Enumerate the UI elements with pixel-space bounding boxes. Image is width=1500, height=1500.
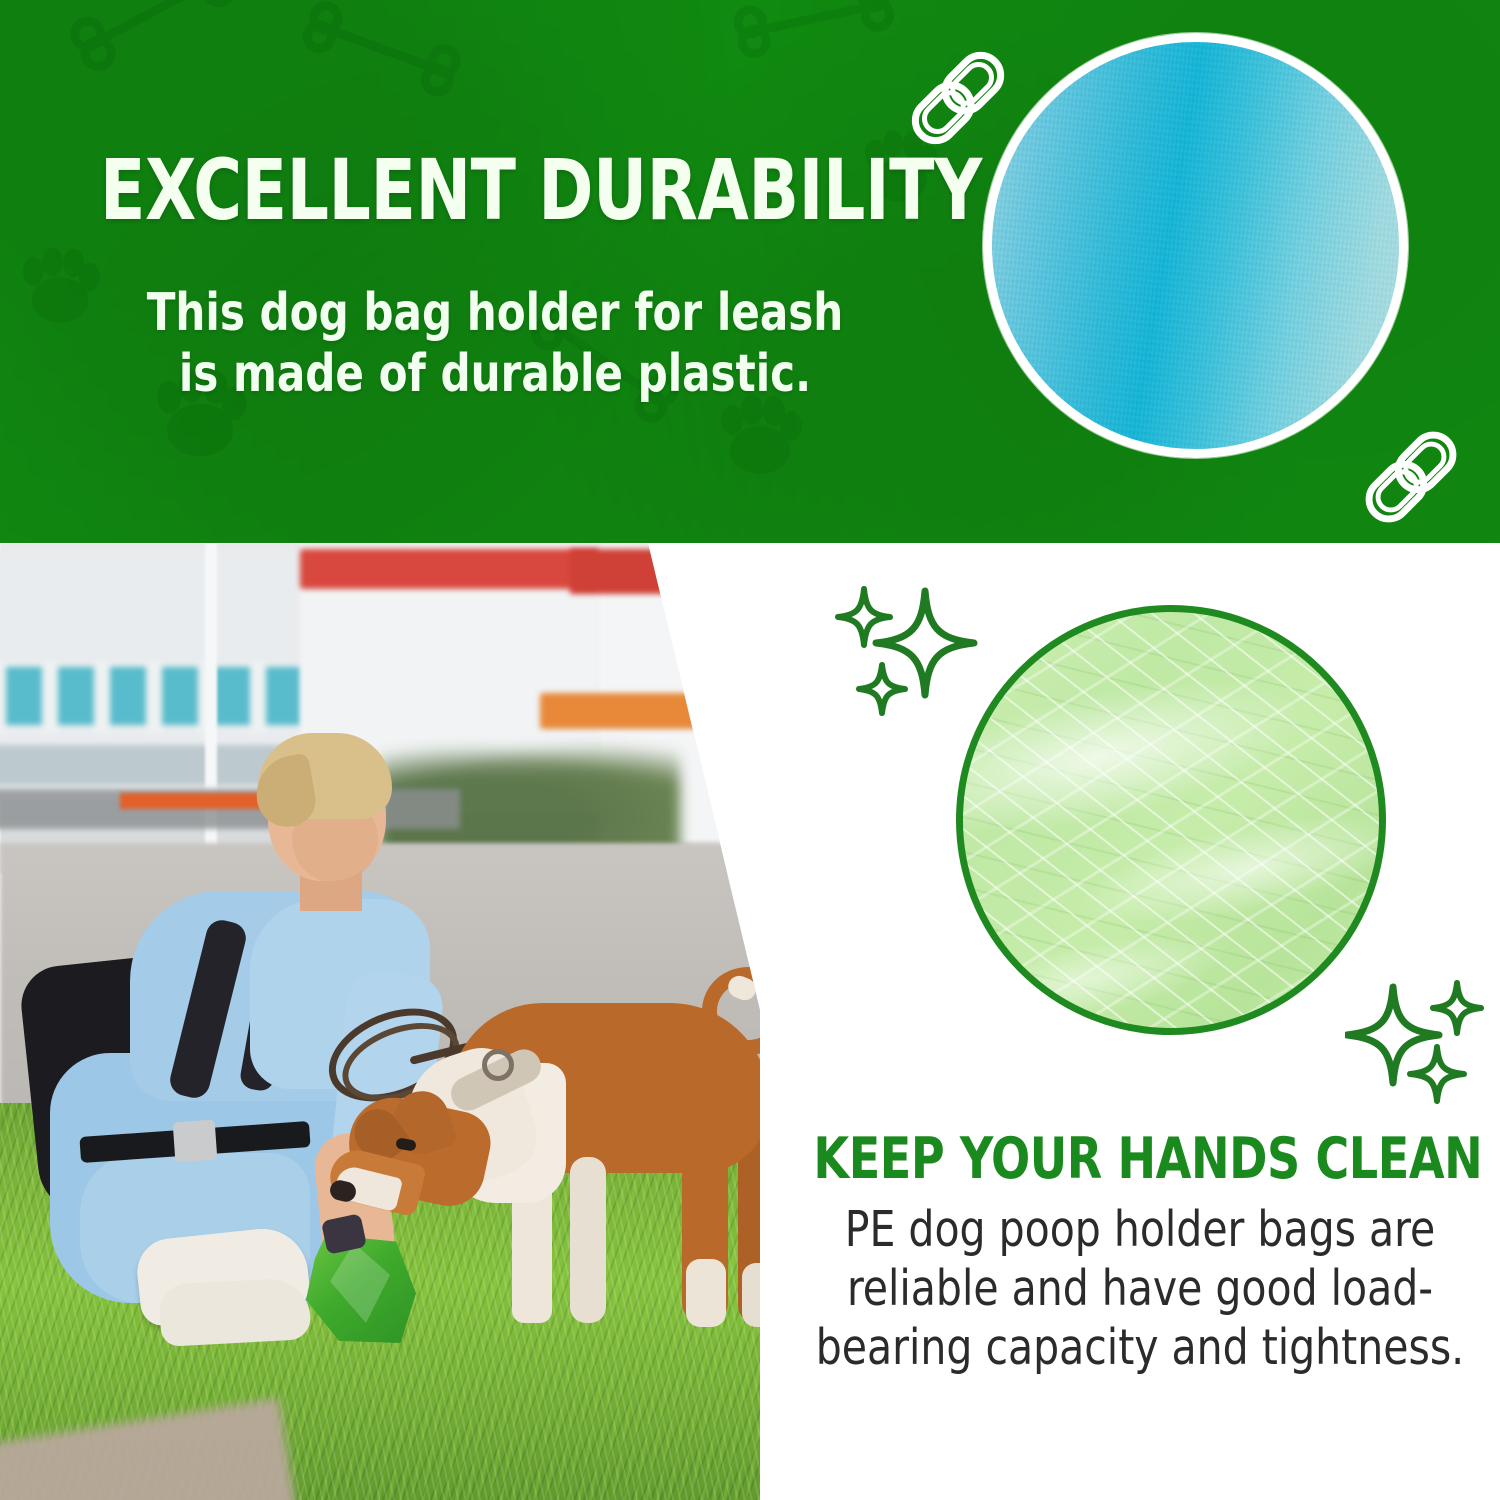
green-poop-bag — [300, 1213, 420, 1343]
plastic-gloss — [956, 605, 1386, 1035]
page-title: EXCELLENT DURABILITY — [100, 152, 795, 229]
panel-body-text: PE dog poop holder bags are reliable and… — [815, 1201, 1466, 1377]
page-subtitle: This dog bag holder for leash is made of… — [122, 283, 869, 406]
benefit-panel: KEEP YOUR HANDS CLEAN PE dog poop holder… — [760, 543, 1500, 1500]
teal-plastic-closeup-circle — [983, 33, 1408, 458]
green-plastic-bag-closeup-circle — [956, 605, 1386, 1035]
plastic-texture — [983, 33, 1408, 458]
sparkle-icon — [1345, 973, 1495, 1118]
infographic-page: EXCELLENT DURABILITY This dog bag holder… — [0, 0, 1500, 1500]
header-banner: EXCELLENT DURABILITY This dog bag holder… — [0, 0, 1500, 543]
panel-title: KEEP YOUR HANDS CLEAN — [813, 1131, 1450, 1188]
